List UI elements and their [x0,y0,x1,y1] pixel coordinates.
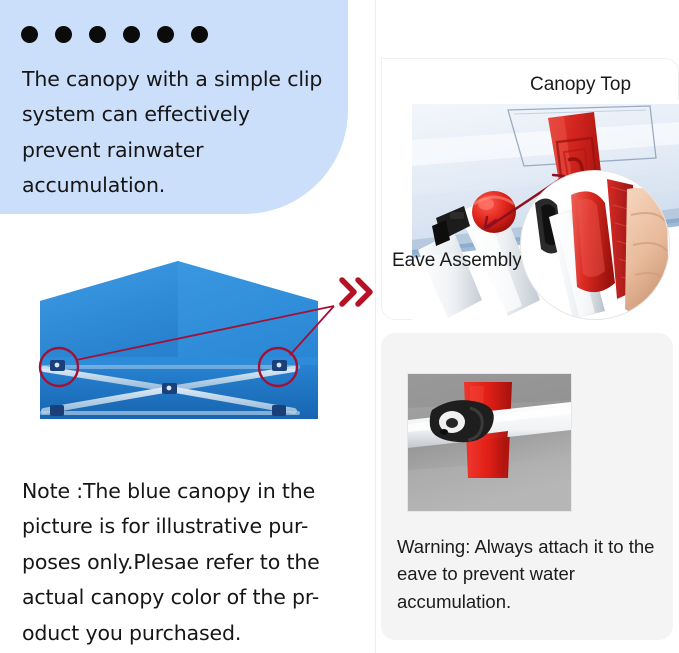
black-clip-buckle [430,400,494,442]
bubble-dot [191,26,208,43]
warning-text: Warning: Always attach it to the eave to… [397,533,659,615]
bubble-dot [55,26,72,43]
chevron-double-right-icon [337,275,377,309]
blue-canopy-photo [22,259,336,449]
eave-assembly-label: Eave Assembly [392,250,522,272]
canopy-top-label: Canopy Top [530,74,631,96]
bubble-dot [123,26,140,43]
column-divider [375,0,376,653]
note-text: Note :The blue canopy in the picture is … [22,474,342,651]
hand-clip-illustration [521,171,669,319]
left-column: The canopy with a simple clip system can… [0,0,376,653]
right-column: Canopy Top [381,0,679,653]
hand-clip-closeup-inset [520,170,670,320]
bubble-dot [21,26,38,43]
strap-on-pole-photo [407,373,572,512]
bubble-dot [157,26,174,43]
bubble-dots [21,26,208,43]
infographic-page: The canopy with a simple clip system can… [0,0,679,653]
speech-bubble: The canopy with a simple clip system can… [0,0,348,214]
headline-text: The canopy with a simple clip system can… [22,62,332,203]
strap-on-pole-illustration [408,374,571,511]
warning-card: Warning: Always attach it to the eave to… [381,333,673,640]
blue-canopy-illustration [22,259,336,449]
bubble-dot [89,26,106,43]
